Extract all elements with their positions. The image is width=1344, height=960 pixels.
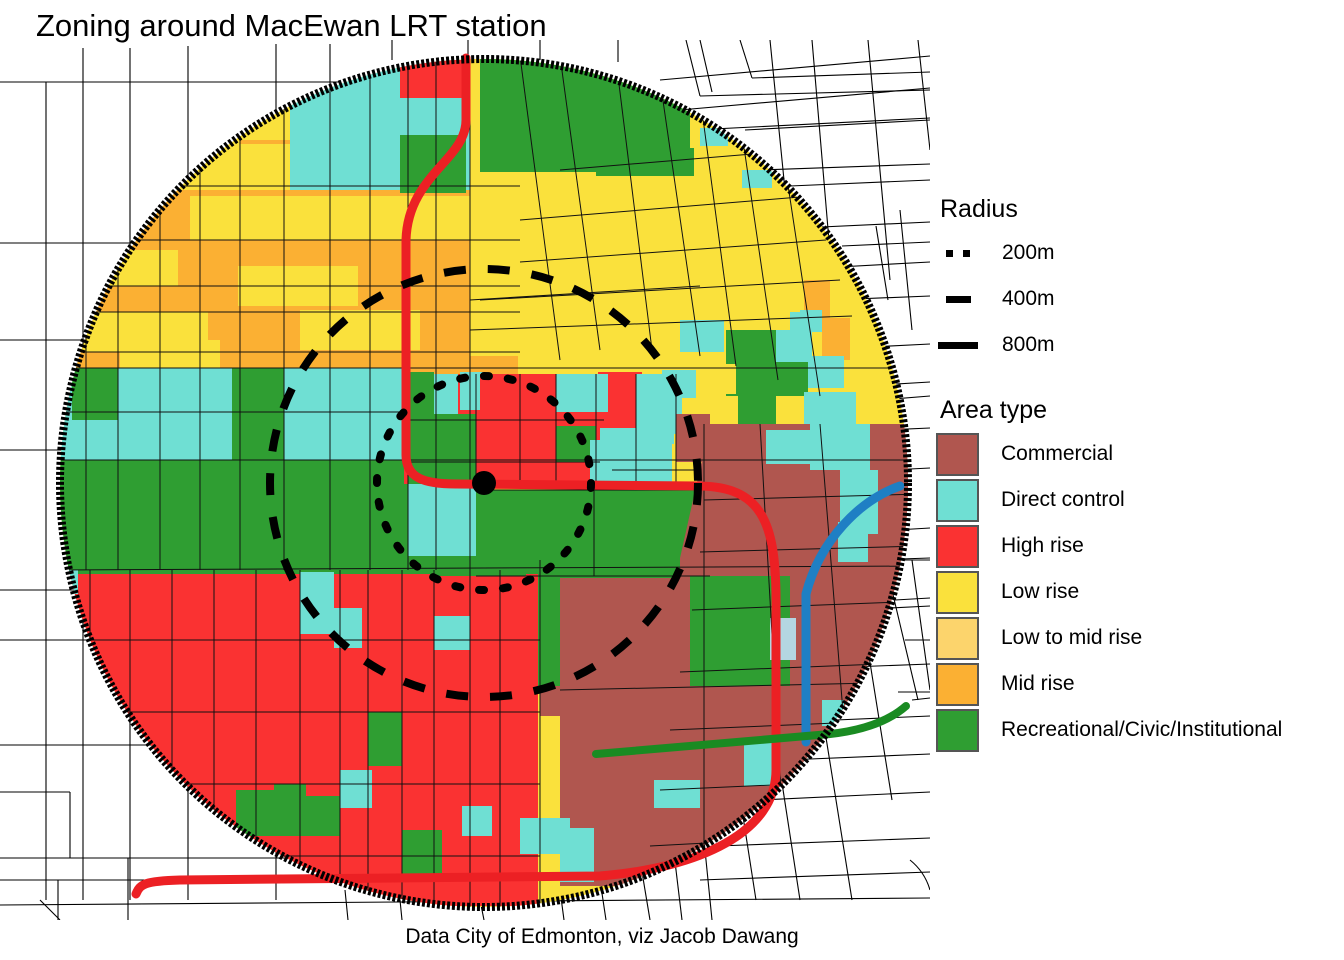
legend-radius-group: Radius 200m 400m (936, 195, 1340, 368)
legend-label-direct-control: Direct control (1001, 488, 1125, 512)
map-canvas[interactable] (0, 0, 930, 920)
legend-item-commercial[interactable]: Commercial (936, 431, 1340, 477)
legend-radius-title: Radius (940, 195, 1340, 224)
legend-item-recreational[interactable]: Recreational/Civic/Institutional (936, 707, 1340, 753)
legend-label-400m: 400m (1002, 287, 1055, 311)
legend-label-commercial: Commercial (1001, 442, 1113, 466)
legend-area-type-group: Area type Commercial Direct control High… (936, 396, 1340, 753)
legend-item-mid-rise[interactable]: Mid rise (936, 661, 1340, 707)
legend-item-800m[interactable]: 800m (936, 322, 1340, 368)
source-caption: Data City of Edmonton, viz Jacob Dawang (0, 925, 1344, 949)
legend-label-low-to-mid-rise: Low to mid rise (1001, 626, 1142, 650)
swatch-low-to-mid-rise (936, 617, 979, 660)
legend-label-high-rise: High rise (1001, 534, 1084, 558)
legend-item-low-rise[interactable]: Low rise (936, 569, 1340, 615)
swatch-high-rise (936, 525, 979, 568)
legend-label-mid-rise: Mid rise (1001, 672, 1075, 696)
solid-line-key (936, 342, 980, 349)
legend-label-800m: 800m (1002, 333, 1055, 357)
dotted-line-key (936, 250, 980, 257)
legend-item-high-rise[interactable]: High rise (936, 523, 1340, 569)
swatch-recreational (936, 709, 979, 752)
legend-item-400m[interactable]: 400m (936, 276, 1340, 322)
zoning-map-page: Zoning around MacEwan LRT station (0, 0, 1344, 960)
swatch-commercial (936, 433, 979, 476)
swatch-low-rise (936, 571, 979, 614)
legend-item-low-to-mid-rise[interactable]: Low to mid rise (936, 615, 1340, 661)
station-point[interactable] (472, 471, 496, 495)
swatch-mid-rise (936, 663, 979, 706)
legend-area-type-title: Area type (940, 396, 1340, 425)
legend-item-200m[interactable]: 200m (936, 230, 1340, 276)
legend: Radius 200m 400m (936, 195, 1340, 753)
legend-label-low-rise: Low rise (1001, 580, 1079, 604)
swatch-direct-control (936, 479, 979, 522)
legend-label-recreational: Recreational/Civic/Institutional (1001, 718, 1282, 742)
source-caption-text: Data City of Edmonton, viz Jacob Dawang (405, 925, 798, 949)
dashed-line-key (936, 296, 980, 303)
legend-item-direct-control[interactable]: Direct control (936, 477, 1340, 523)
legend-label-200m: 200m (1002, 241, 1055, 265)
